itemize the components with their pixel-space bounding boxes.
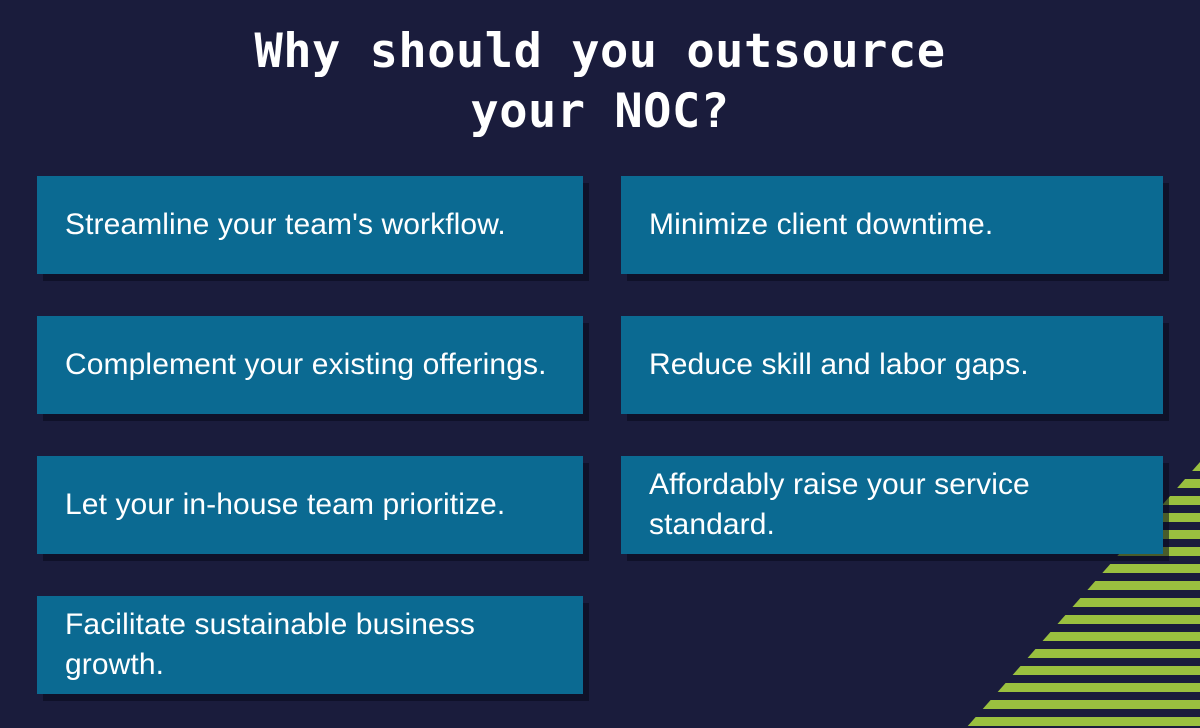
page-title: Why should you outsource your NOC? — [0, 22, 1200, 142]
page-title-line-2: your NOC? — [0, 82, 1200, 142]
benefit-card: Facilitate sustainable business growth. — [37, 596, 583, 694]
benefit-card: Complement your existing offerings. — [37, 316, 583, 414]
infographic-root: Why should you outsource your NOC? Strea… — [0, 0, 1200, 728]
benefit-card: Let your in-house team prioritize. — [37, 456, 583, 554]
benefit-card: Reduce skill and labor gaps. — [621, 316, 1163, 414]
benefit-card-text: Let your in-house team prioritize. — [65, 485, 505, 525]
benefit-card-text: Facilitate sustainable business growth. — [65, 605, 555, 685]
benefit-column-right: Minimize client downtime. Reduce skill a… — [621, 176, 1163, 554]
benefit-card-text: Minimize client downtime. — [649, 208, 993, 242]
page-title-line-1: Why should you outsource — [0, 22, 1200, 82]
benefit-card: Affordably raise your service standard. — [621, 456, 1163, 554]
benefit-card-text: Streamline your team's workflow. — [65, 205, 506, 245]
benefit-card-text: Affordably raise your service standard. — [649, 465, 1135, 545]
benefit-card-text: Complement your existing offerings. — [65, 345, 547, 385]
benefit-card: Minimize client downtime. — [621, 176, 1163, 274]
benefit-card: Streamline your team's workflow. — [37, 176, 583, 274]
benefit-column-left: Streamline your team's workflow. Complem… — [37, 176, 583, 694]
benefit-card-text: Reduce skill and labor gaps. — [649, 348, 1029, 382]
